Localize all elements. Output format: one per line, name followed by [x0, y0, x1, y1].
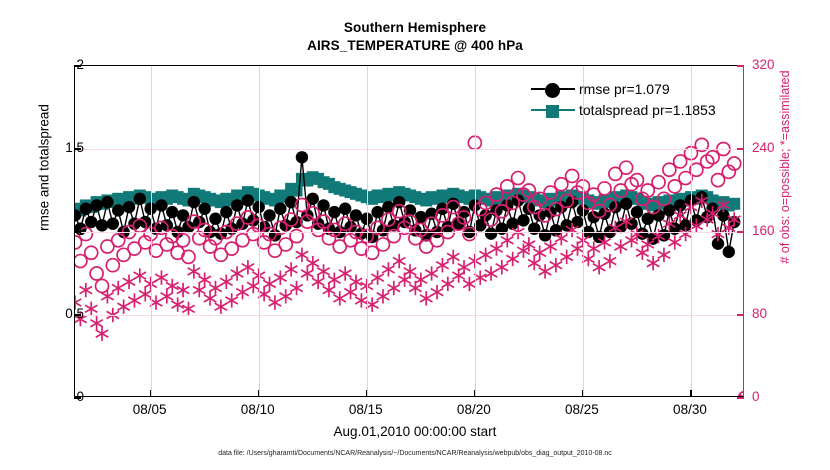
y-tick-mark-left	[74, 231, 81, 233]
horizontal-gridline	[75, 149, 743, 150]
y-tick-mark-left	[74, 65, 81, 67]
y-tick-mark-left	[74, 148, 81, 150]
chart-root: Southern Hemisphere AIRS_TEMPERATURE @ 4…	[0, 0, 830, 470]
chart-title-line1: Southern Hemisphere	[0, 20, 830, 35]
x-tick-label: 08/25	[565, 402, 599, 417]
y-tick-mark-right	[737, 65, 744, 67]
legend-item-rmse[interactable]: rmse pr=1.079	[531, 78, 716, 99]
vertical-gridline	[367, 66, 368, 396]
x-tick-mark	[474, 390, 476, 397]
chart-legend: rmse pr=1.079 totalspread pr=1.1853	[531, 78, 716, 120]
y-tick-mark-right	[737, 397, 744, 399]
x-tick-mark	[582, 390, 584, 397]
vertical-gridline	[475, 66, 476, 396]
legend-marker-totalspread	[531, 102, 575, 118]
vertical-gridline	[259, 66, 260, 396]
y-tick-label-right: 0	[752, 389, 812, 404]
y-tick-mark-right	[737, 148, 744, 150]
y-axis-label-right: # of obs: o=possible; *=assimilated	[778, 2, 792, 332]
x-tick-label: 08/10	[241, 402, 275, 417]
chart-title-line2: AIRS_TEMPERATURE @ 400 hPa	[0, 38, 830, 53]
x-tick-mark	[258, 390, 260, 397]
y-tick-mark-right	[737, 231, 744, 233]
legend-item-totalspread[interactable]: totalspread pr=1.1853	[531, 99, 716, 120]
x-axis-label: Aug.01,2010 00:00:00 start	[0, 424, 830, 439]
legend-label-rmse: rmse pr=1.079	[579, 81, 670, 97]
x-tick-mark	[690, 390, 692, 397]
horizontal-gridline	[75, 232, 743, 233]
x-tick-label: 08/20	[457, 402, 491, 417]
horizontal-gridline	[75, 315, 743, 316]
x-tick-mark	[150, 390, 152, 397]
y-tick-mark-left	[74, 314, 81, 316]
legend-label-totalspread: totalspread pr=1.1853	[579, 102, 716, 118]
y-axis-label-left: rmse and totalspread	[37, 28, 52, 308]
x-tick-label: 08/05	[133, 402, 167, 417]
vertical-gridline	[151, 66, 152, 396]
x-tick-label: 08/15	[349, 402, 383, 417]
y-tick-mark-right	[737, 314, 744, 316]
x-tick-mark	[366, 390, 368, 397]
x-tick-label: 08/30	[673, 402, 707, 417]
data-file-footer: data file: /Users/gharamti/Documents/NCA…	[0, 450, 830, 457]
legend-marker-rmse	[531, 81, 575, 97]
y-tick-mark-left	[74, 397, 81, 399]
